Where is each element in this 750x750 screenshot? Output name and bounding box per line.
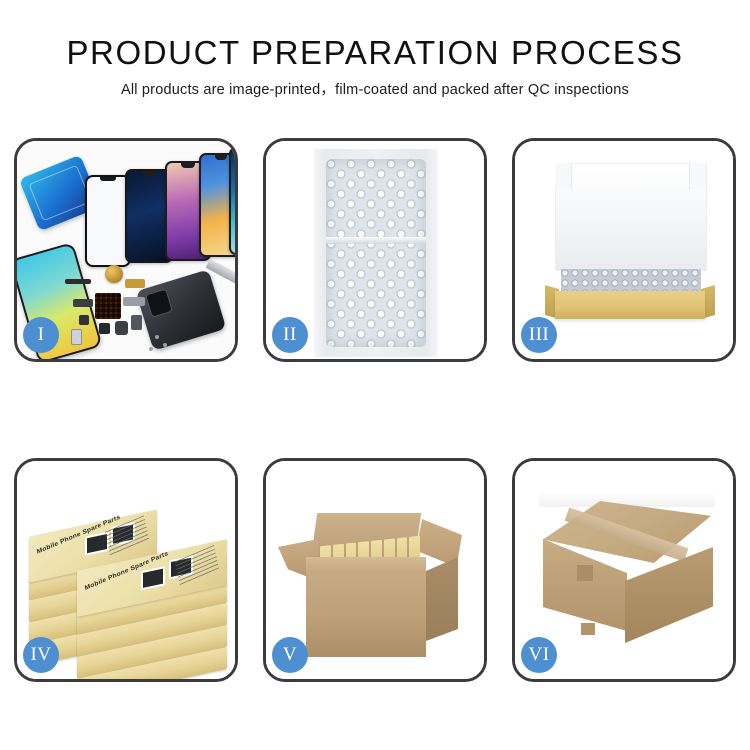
flex-cable-part-3 (73, 299, 93, 307)
screw-part-2 (163, 343, 167, 347)
bubble-wrap-seal-line (326, 237, 426, 244)
page-title: PRODUCT PREPARATION PROCESS (0, 34, 750, 72)
speaker-coil-part (105, 265, 123, 283)
small-module-part-1 (79, 315, 89, 325)
kraft-box-front-panel (555, 291, 705, 319)
flex-cable-part-1 (125, 279, 145, 288)
connector-grid-part (95, 293, 121, 319)
box-spec-lines-front (175, 545, 220, 586)
box-product-swatch-front-1 (141, 566, 165, 590)
screw-part-1 (155, 335, 159, 339)
page-header: PRODUCT PREPARATION PROCESS All products… (0, 0, 750, 99)
white-box-lid-image (555, 163, 707, 271)
carton-backdrop-shadow (539, 491, 715, 507)
step-badge-4: IV (23, 637, 59, 673)
white-box-lid-tab-left (555, 163, 572, 189)
process-steps-grid: I II III (14, 138, 736, 682)
step-panel-2: II (263, 138, 487, 362)
step-panel-6: VI (512, 458, 736, 682)
screw-part-3 (149, 347, 153, 351)
carton-handle-tab-upper (577, 565, 593, 581)
white-box-lid-tab-right (689, 163, 706, 189)
step-panel-1: I (14, 138, 238, 362)
step-badge-2: II (272, 317, 308, 353)
page-subtitle: All products are image-printed，film-coat… (0, 81, 750, 99)
flex-cable-part-2 (123, 297, 145, 306)
step-badge-3: III (521, 317, 557, 353)
carton-handle-tab-lower (581, 623, 595, 635)
bubble-wrap-bubbles-image (326, 159, 426, 347)
spare-parts-cluster-image (69, 263, 185, 359)
step-badge-6: VI (521, 637, 557, 673)
battery-connector-part (131, 315, 142, 330)
bubble-wrapped-items-in-box (561, 269, 701, 293)
sim-tray-part (71, 329, 82, 345)
step-panel-4: Mobile Phone Spare Parts Mobile Phone Sp… (14, 458, 238, 682)
earpiece-bar-part (65, 279, 91, 284)
carton-front-panel (306, 571, 426, 657)
phone-screen-image-4 (229, 147, 235, 255)
step-badge-1: I (23, 317, 59, 353)
vibrator-motor-part (115, 321, 128, 335)
step-badge-5: V (272, 637, 308, 673)
step-panel-5: V (263, 458, 487, 682)
carton-side-panel (426, 557, 458, 641)
small-module-part-2 (99, 323, 110, 334)
step-panel-3: III (512, 138, 736, 362)
kraft-box-stack-image: Mobile Phone Spare Parts Mobile Phone Sp… (23, 479, 235, 669)
